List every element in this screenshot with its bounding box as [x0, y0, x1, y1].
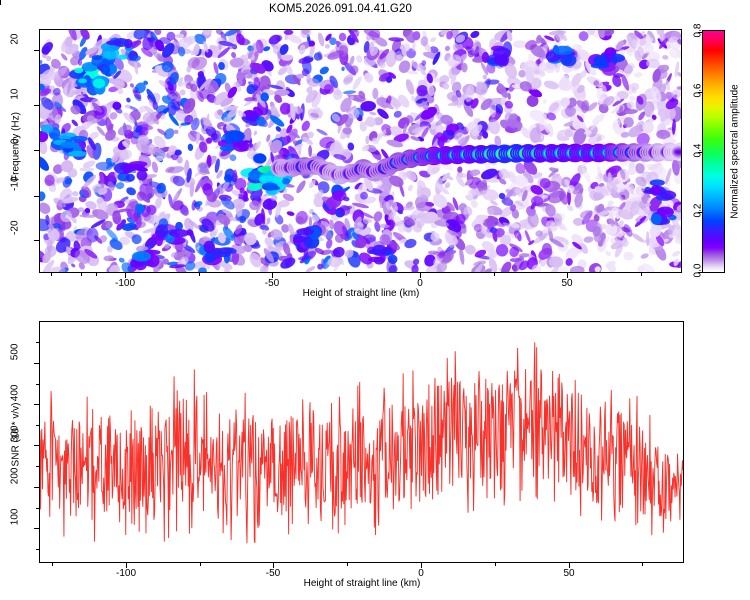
snr-xtick-label-m100: -100 — [106, 568, 146, 579]
cbar-label-0.0: 0.0 — [693, 252, 704, 290]
spectrogram-plot-area — [39, 29, 682, 273]
cbar-label-0.4: 0.4 — [693, 132, 704, 170]
snr-ytick-100 — [34, 528, 39, 529]
spec-ytick-20 — [34, 50, 39, 51]
snr-ytick-label-100: 100 — [10, 509, 21, 547]
snr-ytick-label-500: 500 — [10, 344, 21, 382]
page-title: KOM5.2026.091.04.41.G20 — [0, 3, 681, 15]
spec-xtick-minor — [81, 273, 82, 276]
snr-y-axis-label: SNR (10 * v/v) — [11, 385, 22, 485]
spec-xtick-minor — [346, 273, 347, 276]
spec-xtick-minor — [199, 273, 200, 276]
spec-xtick-minor — [494, 273, 495, 276]
snr-ytick-minor — [36, 342, 39, 343]
spectrogram-y-axis-label: Frequency (Hz) — [11, 105, 22, 189]
spec-ytick-label-m20: -20 — [10, 221, 21, 259]
snr-xtick-label-50: 50 — [554, 568, 584, 579]
spec-xtick-label-m100: -100 — [105, 278, 145, 289]
snr-plot-area — [39, 321, 684, 563]
snr-x-axis-label: Height of straight line (km) — [282, 578, 442, 589]
snr-ytick-minor — [36, 425, 39, 426]
spec-ytick-10 — [34, 105, 39, 106]
snr-ytick-200 — [34, 487, 39, 488]
figure-canvas: KOM5.2026.091.04.41.G20 20 10 0 -10 -20 … — [0, 0, 750, 600]
snr-ytick-minor — [36, 384, 39, 385]
cbar-label-0.2: 0.2 — [693, 192, 704, 230]
spectrogram-x-axis-label: Height of straight line (km) — [281, 288, 441, 299]
spectrogram-image — [40, 30, 681, 272]
snr-xtick-minor — [52, 563, 53, 566]
spec-xtick-label-50: 50 — [552, 278, 582, 289]
spec-ytick-m20 — [34, 240, 39, 241]
snr-ytick-minor — [36, 549, 39, 550]
colorbar-label: Normalized spectral amplitude — [730, 72, 741, 232]
spec-xtick-minor — [51, 273, 52, 276]
snr-ytick-500 — [34, 363, 39, 364]
colorbar — [702, 30, 725, 273]
snr-xtick-minor — [347, 563, 348, 566]
snr-ytick-300 — [34, 445, 39, 446]
spec-xtick-minor — [641, 273, 642, 276]
snr-ytick-minor — [36, 466, 39, 467]
snr-xtick-minor — [642, 563, 643, 566]
snr-trace — [40, 322, 683, 562]
snr-ytick-minor — [36, 508, 39, 509]
spec-ytick-label-20: 20 — [10, 34, 21, 66]
spec-ytick-m10 — [34, 196, 39, 197]
snr-ytick-400 — [34, 404, 39, 405]
spec-ytick-0 — [34, 150, 39, 151]
cbar-label-0.6: 0.6 — [693, 72, 704, 110]
snr-xtick-minor — [200, 563, 201, 566]
spec-xtick-minor — [96, 273, 97, 276]
snr-xtick-minor — [495, 563, 496, 566]
cbar-label-0.8: 0.8 — [693, 12, 704, 50]
